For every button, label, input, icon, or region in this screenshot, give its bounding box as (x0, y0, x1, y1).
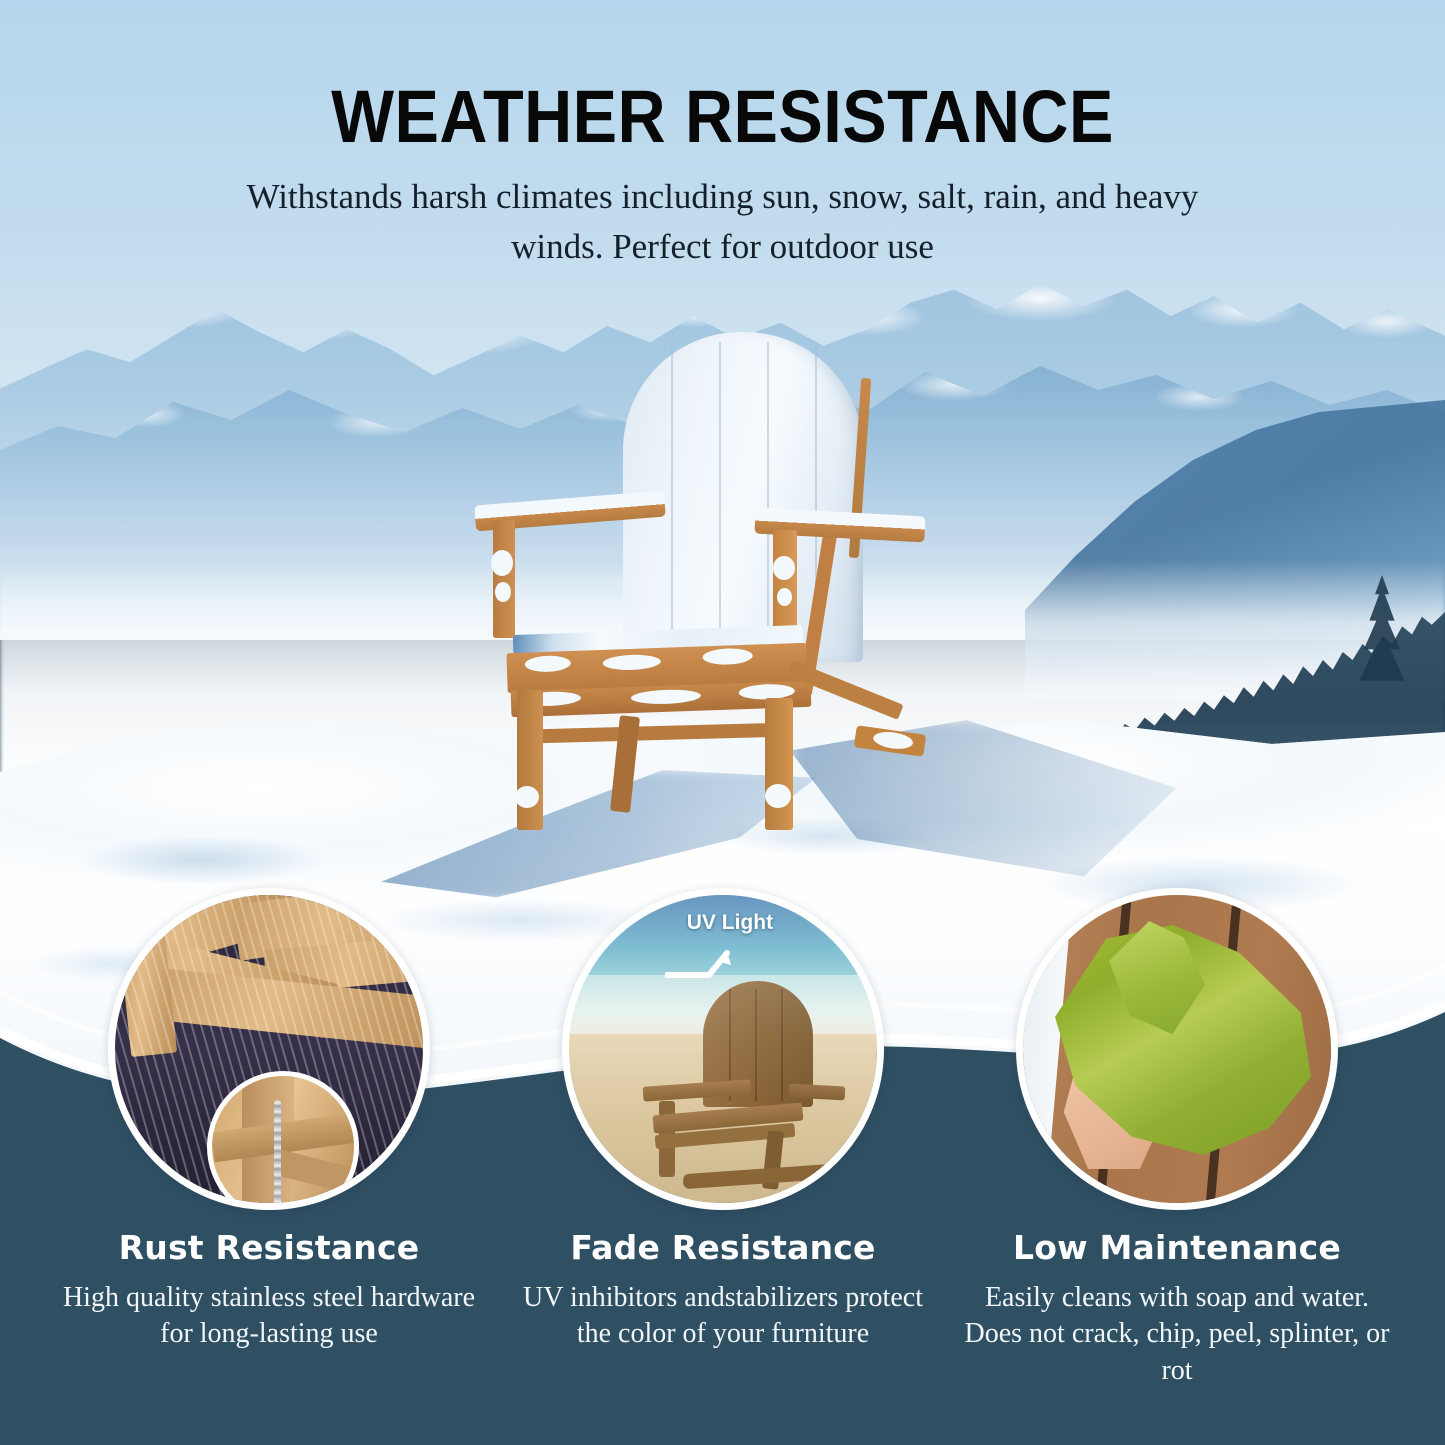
feature-caption-low-maintenance: Low Maintenance Easily cleans with soap … (962, 1228, 1392, 1389)
stainless-chain (274, 1100, 281, 1208)
chair-foot-right (854, 725, 926, 757)
uv-arrow-icon (665, 947, 739, 991)
chair-leg-front-right (765, 698, 793, 830)
chair-stretcher (535, 723, 785, 744)
page-title: WEATHER RESISTANCE (72, 74, 1373, 159)
feature-body: High quality stainless steel hardware fo… (54, 1280, 484, 1353)
feature-title: Rust Resistance (54, 1228, 484, 1267)
uv-shield-arc (562, 888, 884, 1210)
feature-image-fade-resistance: UV Light (562, 888, 884, 1210)
hardware-chain-inset (207, 1071, 359, 1210)
uv-light-label: UV Light (687, 911, 773, 935)
feature-title: Fade Resistance (508, 1228, 938, 1267)
feature-body: Easily cleans with soap and water. Does … (962, 1280, 1392, 1389)
hero-adirondack-chair (455, 330, 955, 830)
chair-arm-support-left (493, 520, 515, 638)
feature-image-low-maintenance (1016, 888, 1338, 1210)
feature-title: Low Maintenance (962, 1228, 1392, 1267)
feature-caption-fade-resistance: Fade Resistance UV inhibitors andstabili… (508, 1228, 938, 1353)
feature-body: UV inhibitors andstabilizers protect the… (508, 1280, 938, 1353)
feature-image-rust-resistance (108, 888, 430, 1210)
weather-resistance-poster: UV Light WEATHER RESISTANCE Withstands h… (0, 0, 1445, 1445)
chair-leg-front-left (517, 690, 543, 830)
page-subtitle: Withstands harsh climates including sun,… (223, 172, 1223, 271)
feature-caption-rust-resistance: Rust Resistance High quality stainless s… (54, 1228, 484, 1353)
